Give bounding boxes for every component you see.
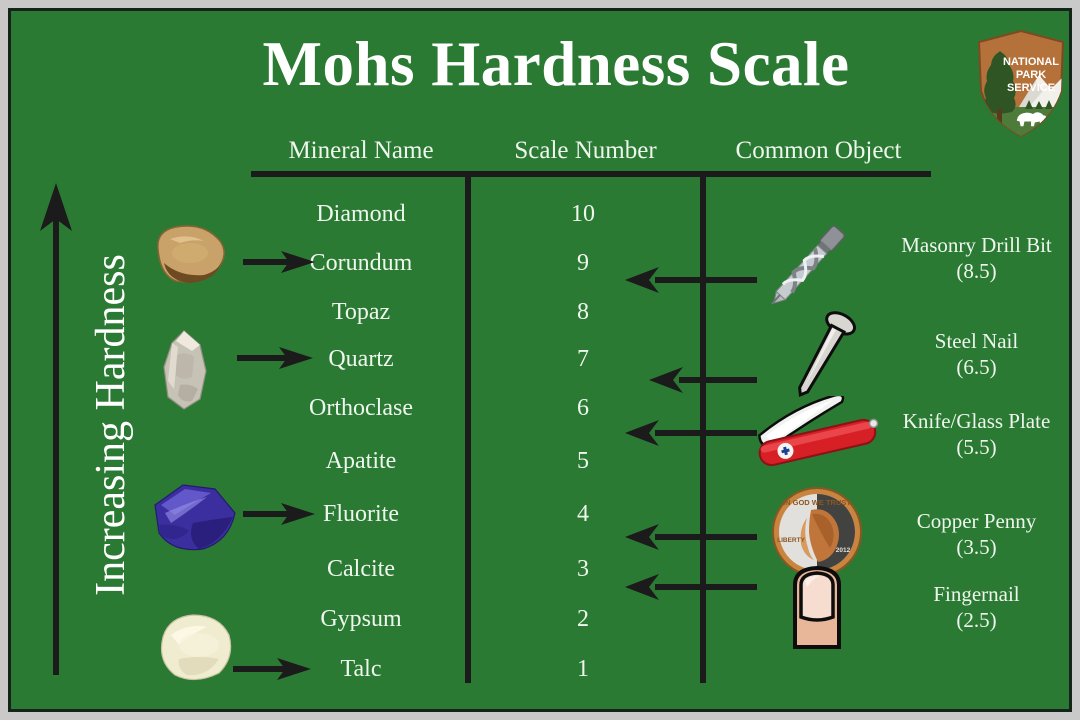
- arrow-quartz: [237, 345, 313, 376]
- object-label-knife-glass-plate: Knife/Glass Plate (5.5): [869, 409, 1080, 460]
- penny-year-text: 2012: [836, 547, 851, 554]
- specimen-quartz: [154, 329, 226, 418]
- column-header-scale-number: Scale Number: [488, 137, 683, 165]
- object-value: (6.5): [869, 355, 1080, 381]
- object-value: (3.5): [869, 535, 1080, 561]
- object-name: Steel Nail: [935, 329, 1018, 353]
- penny-motto-text: IN GOD WE TRUST: [783, 498, 851, 507]
- poster-board: Mohs Hardness Scale: [8, 8, 1072, 712]
- object-label-copper-penny: Copper Penny (3.5): [869, 509, 1080, 560]
- logo-line-3: SERVICE: [1007, 82, 1055, 94]
- column-header-mineral-name: Mineral Name: [261, 137, 461, 165]
- object-name: Knife/Glass Plate: [903, 409, 1051, 433]
- object-label-fingernail: Fingernail (2.5): [869, 582, 1080, 633]
- scale-number-2: 2: [468, 606, 698, 633]
- pointer-arrow-fingernail: [625, 573, 757, 606]
- mineral-name-diamond: Diamond: [246, 201, 476, 228]
- mineral-name-calcite: Calcite: [246, 556, 476, 583]
- column-header-common-object: Common Object: [711, 137, 926, 165]
- pointer-arrow-steel-nail: [649, 366, 757, 399]
- specimen-talc: [149, 609, 241, 692]
- scale-number-1: 1: [468, 656, 698, 683]
- pointer-arrow-knife: [625, 419, 757, 452]
- mineral-name-apatite: Apatite: [246, 448, 476, 475]
- object-value: (5.5): [869, 435, 1080, 461]
- scale-number-5: 5: [468, 448, 698, 475]
- object-name: Masonry Drill Bit: [901, 233, 1052, 257]
- logo-line-1: NATIONAL: [1003, 56, 1059, 68]
- specimen-corundum: [146, 219, 236, 294]
- scale-number-6: 6: [468, 395, 698, 422]
- arrow-fluorite: [243, 501, 315, 532]
- page-title: Mohs Hardness Scale: [161, 31, 951, 97]
- increasing-hardness-label: Increasing Hardness: [87, 175, 135, 675]
- mineral-name-orthoclase: Orthoclase: [246, 395, 476, 422]
- national-park-service-logo: NATIONAL PARK SERVICE: [973, 29, 1069, 139]
- arrow-talc: [233, 656, 311, 687]
- object-name: Fingernail: [933, 582, 1019, 606]
- mohs-hardness-scale-poster: Mohs Hardness Scale: [0, 0, 1080, 720]
- object-label-masonry-drill-bit: Masonry Drill Bit (8.5): [869, 233, 1080, 284]
- object-value: (8.5): [869, 259, 1080, 285]
- pointer-arrow-drill-bit: [625, 266, 757, 299]
- arrow-corundum: [243, 249, 315, 280]
- mineral-name-gypsum: Gypsum: [246, 606, 476, 633]
- pocket-knife-icon: [749, 396, 889, 473]
- fingernail-icon: [779, 563, 855, 654]
- penny-liberty-text: LIBERTY: [777, 537, 805, 544]
- mineral-name-topaz: Topaz: [246, 299, 476, 326]
- object-label-steel-nail: Steel Nail (6.5): [869, 329, 1080, 380]
- scale-number-10: 10: [468, 201, 698, 228]
- logo-line-2: PARK: [1016, 69, 1046, 81]
- scale-number-8: 8: [468, 299, 698, 326]
- object-value: (2.5): [869, 608, 1080, 634]
- pointer-arrow-copper-penny: [625, 523, 757, 556]
- object-name: Copper Penny: [917, 509, 1037, 533]
- header-divider-rule: [251, 171, 931, 177]
- specimen-fluorite: [149, 479, 241, 560]
- increasing-hardness-arrow-icon: [39, 183, 73, 675]
